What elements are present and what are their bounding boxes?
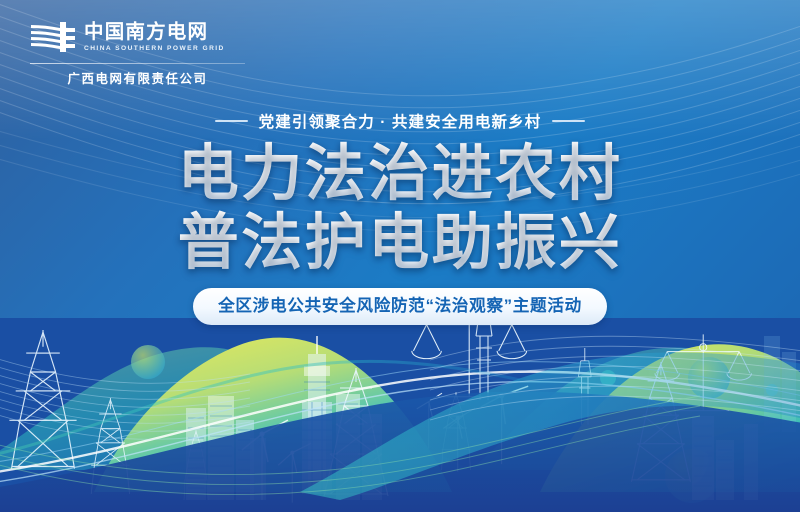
- brand-subsidiary: 广西电网有限责任公司: [30, 69, 245, 87]
- headline-block: 电力法治进农村 普法护电助振兴: [0, 140, 800, 275]
- poster-canvas: 中国南方电网 CHINA SOUTHERN POWER GRID 广西电网有限责…: [0, 0, 800, 512]
- campaign-pill-label: 全区涉电公共安全风险防范“法治观察”主题活动: [193, 288, 607, 325]
- dash-rule-right-icon: [552, 120, 585, 122]
- csg-grid-mark-icon: [30, 22, 76, 52]
- headline-line-2: 普法护电助振兴: [178, 209, 623, 275]
- campaign-pill-wrap: 全区涉电公共安全风险防范“法治观察”主题活动: [0, 288, 800, 325]
- brand-name-cn: 中国南方电网: [84, 22, 225, 43]
- brand-name-en: CHINA SOUTHERN POWER GRID: [84, 44, 225, 53]
- brand-logo-block: 中国南方电网 CHINA SOUTHERN POWER GRID 广西电网有限责…: [30, 16, 245, 82]
- headline-line-1: 电力法治进农村: [178, 140, 623, 206]
- tagline-text: 党建引领聚合力 · 共建安全用电新乡村: [259, 110, 542, 132]
- dash-rule-left-icon: [215, 120, 248, 122]
- brand-divider: [30, 63, 245, 64]
- tagline-row: 党建引领聚合力 · 共建安全用电新乡村: [0, 110, 800, 132]
- translucent-circle: [131, 345, 165, 379]
